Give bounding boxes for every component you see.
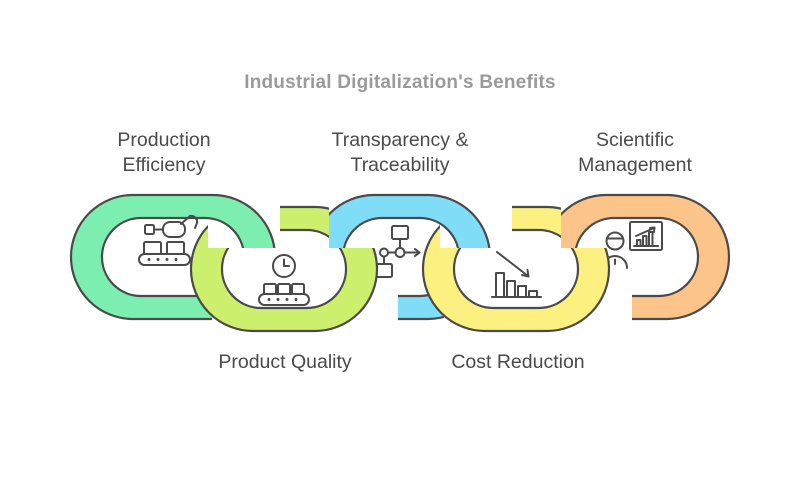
- infographic-canvas: Industrial Digitalization's Benefits Pro…: [0, 0, 800, 500]
- chain-diagram: [0, 0, 800, 500]
